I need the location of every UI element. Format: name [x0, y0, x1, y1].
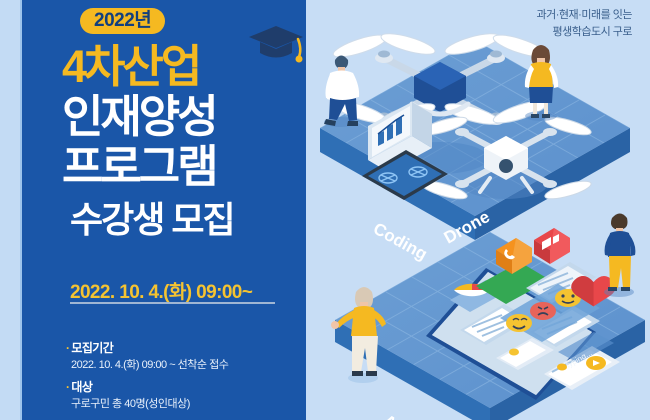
detail-target-audience: 대상 구로구민 총 40명(성인대상): [66, 380, 190, 412]
bottom-platform: typing...: [331, 214, 645, 420]
video-camera-icon: [534, 228, 570, 264]
emoji-laugh-icon: [506, 314, 532, 332]
year-badge: 2022년: [80, 8, 165, 34]
page-title-line-4: 수강생 모집: [70, 202, 234, 238]
isometric-illustration: Coding Drone: [300, 0, 650, 420]
city-tagline: 과거·현재·미래를 잇는 평생학습도시 구로: [537, 7, 632, 41]
detail-body: 2022. 10. 4.(화) 09:00 ~ 선착순 접수: [71, 358, 228, 373]
detail-heading: 모집기간: [66, 341, 228, 357]
poster-canvas: Coding Drone: [0, 0, 650, 420]
tagline-line-2: 평생학습도시 구로: [537, 24, 632, 41]
platform-label-coding: Coding: [370, 219, 430, 264]
left-edge-strip: [0, 0, 22, 420]
detail-body: 구로구민 총 40명(성인대상): [71, 397, 190, 412]
date-divider: [70, 302, 275, 304]
page-title-line-2: 인재양성: [62, 94, 216, 139]
emoji-sad-icon: [530, 302, 556, 320]
top-platform: Coding Drone: [320, 30, 630, 264]
tagline-line-1: 과거·현재·미래를 잇는: [537, 7, 632, 24]
left-edge-hairline: [20, 0, 22, 420]
page-title-line-1: 4차산업: [62, 44, 199, 89]
detail-recruitment-period: 모집기간 2022. 10. 4.(화) 09:00 ~ 선착순 접수: [66, 341, 228, 373]
event-date: 2022. 10. 4.(화) 09:00~: [70, 277, 252, 304]
graduation-cap-icon: [246, 22, 306, 68]
page-title-line-3: 프로그램: [62, 144, 216, 189]
detail-heading: 대상: [66, 380, 190, 396]
